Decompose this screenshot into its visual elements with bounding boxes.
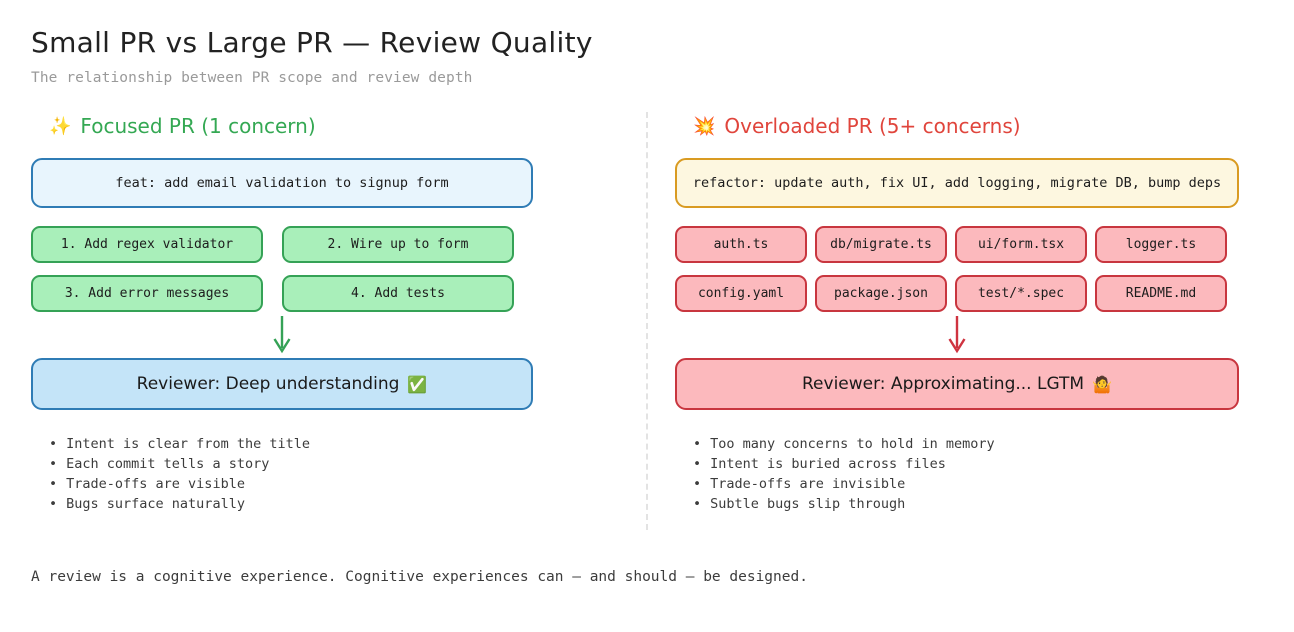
list-item-label: Subtle bugs slip through: [710, 494, 905, 514]
comparison-board: ✨ Focused PR (1 concern) feat: add email…: [31, 112, 1263, 537]
page-header: Small PR vs Large PR — Review Quality Th…: [0, 0, 1294, 86]
list-item-label: Too many concerns to hold in memory: [710, 434, 994, 454]
file-chip[interactable]: db/migrate.ts: [815, 226, 947, 263]
file-chip[interactable]: config.yaml: [675, 275, 807, 312]
collision-icon: 💥: [693, 116, 715, 137]
file-chip[interactable]: package.json: [815, 275, 947, 312]
list-item: • Trade-offs are visible: [49, 474, 619, 494]
green-down-arrow-icon: [271, 315, 293, 355]
person-shrugging-icon: 🤷: [1092, 375, 1112, 394]
focused-steps-grid: 1. Add regex validator 2. Wire up to for…: [31, 226, 533, 312]
file-chip[interactable]: auth.ts: [675, 226, 807, 263]
list-item-label: Bugs surface naturally: [66, 494, 245, 514]
list-item: • Subtle bugs slip through: [693, 494, 1263, 514]
step-chip[interactable]: 2. Wire up to form: [282, 226, 514, 263]
verdict-focused: Reviewer: Deep understanding ✅: [31, 358, 533, 410]
footer-caption: A review is a cognitive experience. Cogn…: [31, 569, 808, 585]
step-chip-label: 3. Add error messages: [65, 286, 229, 301]
list-item: • Bugs surface naturally: [49, 494, 619, 514]
list-item-label: Intent is clear from the title: [66, 434, 310, 454]
column-overloaded-pr: 💥 Overloaded PR (5+ concerns) refactor: …: [675, 112, 1263, 514]
page-subtitle: The relationship between PR scope and re…: [31, 70, 1294, 86]
file-chip-label: logger.ts: [1126, 237, 1196, 252]
sparkles-icon: ✨: [49, 116, 71, 137]
file-chip-label: test/*.spec: [978, 286, 1064, 301]
divider-dashed-line: [646, 112, 648, 530]
verdict-overloaded: Reviewer: Approximating... LGTM 🤷: [675, 358, 1239, 410]
pr-title-overloaded-label: refactor: update auth, fix UI, add loggi…: [693, 175, 1221, 191]
column-divider: [619, 112, 675, 530]
file-chip[interactable]: README.md: [1095, 275, 1227, 312]
file-chip-label: ui/form.tsx: [978, 237, 1064, 252]
file-chip[interactable]: logger.ts: [1095, 226, 1227, 263]
pr-title-focused-label: feat: add email validation to signup for…: [115, 175, 448, 191]
column-heading-focused: ✨ Focused PR (1 concern): [31, 112, 619, 140]
column-focused-pr: ✨ Focused PR (1 concern) feat: add email…: [31, 112, 619, 514]
focused-bullet-list: • Intent is clear from the title • Each …: [31, 434, 619, 514]
file-chip[interactable]: ui/form.tsx: [955, 226, 1087, 263]
step-chip[interactable]: 4. Add tests: [282, 275, 514, 312]
file-chip-label: auth.ts: [714, 237, 769, 252]
page-title: Small PR vs Large PR — Review Quality: [31, 26, 1294, 59]
pr-title-box-focused[interactable]: feat: add email validation to signup for…: [31, 158, 533, 208]
list-item: • Trade-offs are invisible: [693, 474, 1263, 494]
verdict-overloaded-label: Reviewer: Approximating... LGTM: [802, 374, 1084, 394]
pr-title-box-overloaded[interactable]: refactor: update auth, fix UI, add loggi…: [675, 158, 1239, 208]
column-heading-overloaded: 💥 Overloaded PR (5+ concerns): [675, 112, 1263, 140]
bullet-marker: •: [49, 434, 57, 454]
bullet-marker: •: [693, 494, 701, 514]
list-item: • Intent is clear from the title: [49, 434, 619, 454]
file-chip-label: db/migrate.ts: [830, 237, 932, 252]
step-chip-label: 1. Add regex validator: [61, 237, 233, 252]
overloaded-bullet-list: • Too many concerns to hold in memory • …: [675, 434, 1263, 514]
list-item-label: Intent is buried across files: [710, 454, 946, 474]
list-item: • Intent is buried across files: [693, 454, 1263, 474]
file-chip-label: config.yaml: [698, 286, 784, 301]
focused-arrow-row: [31, 312, 533, 358]
step-chip[interactable]: 1. Add regex validator: [31, 226, 263, 263]
file-chip[interactable]: test/*.spec: [955, 275, 1087, 312]
list-item: • Too many concerns to hold in memory: [693, 434, 1263, 454]
step-chip-label: 2. Wire up to form: [328, 237, 469, 252]
step-chip[interactable]: 3. Add error messages: [31, 275, 263, 312]
red-down-arrow-icon: [946, 315, 968, 355]
list-item: • Each commit tells a story: [49, 454, 619, 474]
column-heading-focused-label: Focused PR (1 concern): [80, 114, 315, 138]
step-chip-label: 4. Add tests: [351, 286, 445, 301]
check-mark-button-icon: ✅: [407, 375, 427, 394]
bullet-marker: •: [49, 474, 57, 494]
bullet-marker: •: [693, 434, 701, 454]
bullet-marker: •: [693, 474, 701, 494]
column-heading-overloaded-label: Overloaded PR (5+ concerns): [724, 114, 1020, 138]
verdict-focused-label: Reviewer: Deep understanding: [137, 374, 400, 394]
list-item-label: Trade-offs are visible: [66, 474, 245, 494]
bullet-marker: •: [693, 454, 701, 474]
list-item-label: Each commit tells a story: [66, 454, 269, 474]
bullet-marker: •: [49, 454, 57, 474]
overloaded-arrow-row: [675, 312, 1239, 358]
list-item-label: Trade-offs are invisible: [710, 474, 905, 494]
file-chip-label: package.json: [834, 286, 928, 301]
bullet-marker: •: [49, 494, 57, 514]
overloaded-files-grid: auth.ts db/migrate.ts ui/form.tsx logger…: [675, 226, 1239, 312]
file-chip-label: README.md: [1126, 286, 1196, 301]
